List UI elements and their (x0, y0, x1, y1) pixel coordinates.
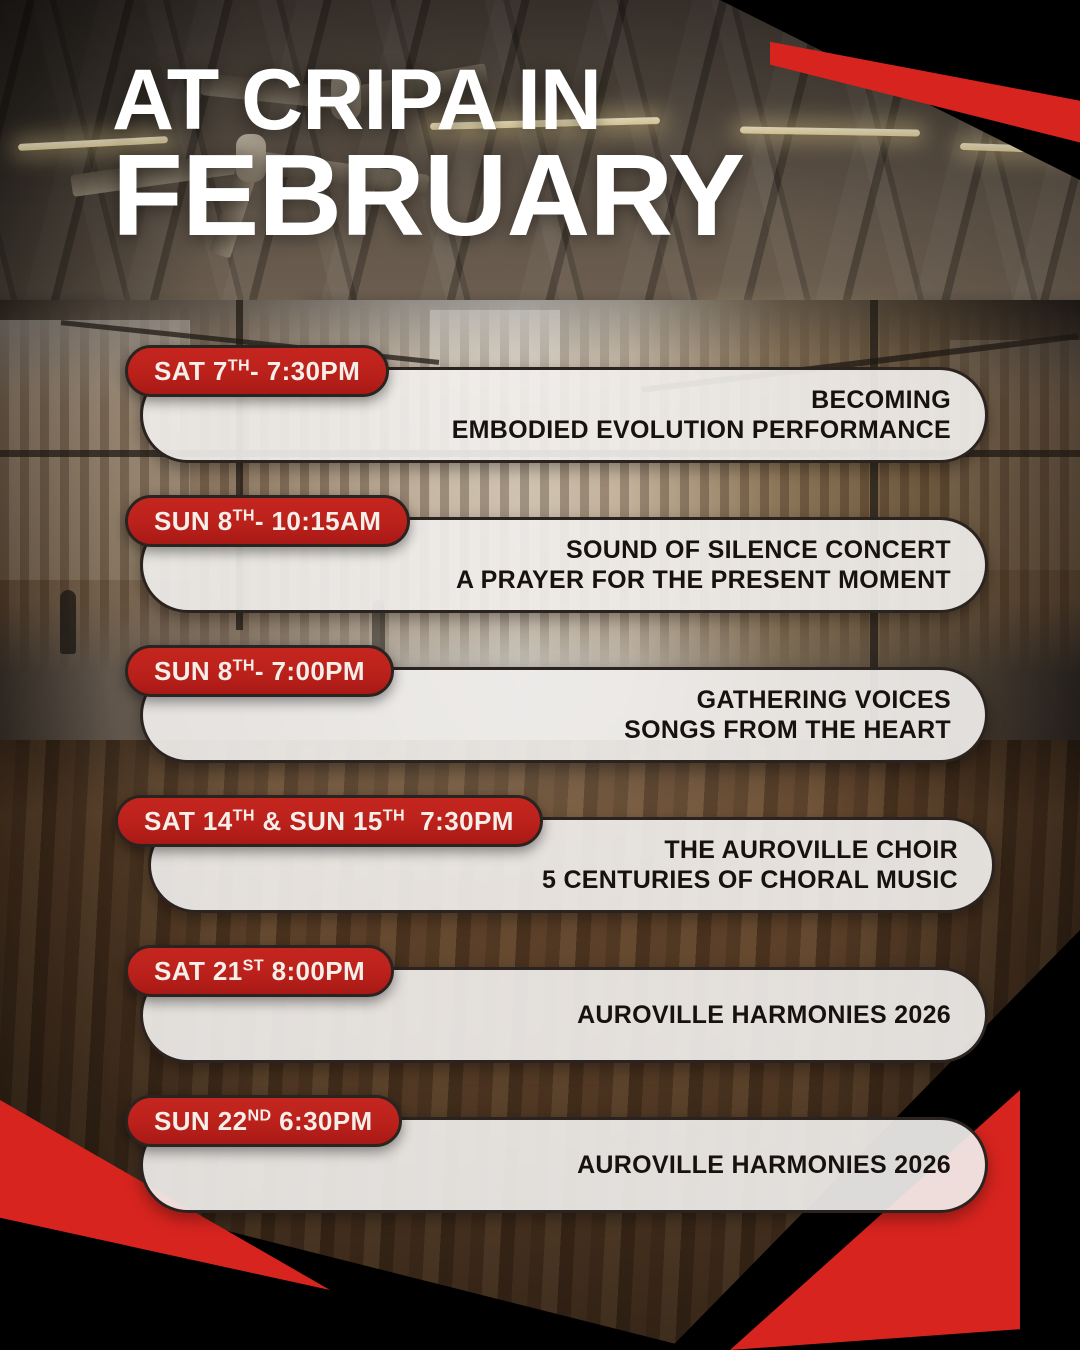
event-row[interactable]: SOUND OF SILENCE CONCERTA PRAYER FOR THE… (0, 495, 1080, 645)
page-title: AT CRIPA IN FEBRUARY (112, 62, 744, 248)
event-title-line: 5 CENTURIES OF CHORAL MUSIC (542, 865, 958, 896)
event-title-line: AUROVILLE HARMONIES 2026 (577, 1150, 951, 1181)
event-date-text: SUN 22ND 6:30PM (154, 1106, 373, 1137)
event-date-text: SAT 21ST 8:00PM (154, 956, 365, 987)
event-title-line: AUROVILLE HARMONIES 2026 (577, 1000, 951, 1031)
event-date-pill[interactable]: SAT 7TH- 7:30PM (125, 345, 389, 397)
event-title-line: SONGS FROM THE HEART (624, 715, 951, 746)
event-title-line: A PRAYER FOR THE PRESENT MOMENT (456, 565, 951, 596)
event-row[interactable]: BECOMINGEMBODIED EVOLUTION PERFORMANCESA… (0, 345, 1080, 495)
event-title-line: THE AUROVILLE CHOIR (664, 835, 958, 866)
event-date-pill[interactable]: SUN 22ND 6:30PM (125, 1095, 402, 1147)
event-row[interactable]: AUROVILLE HARMONIES 2026SUN 22ND 6:30PM (0, 1095, 1080, 1245)
event-date-pill[interactable]: SAT 21ST 8:00PM (125, 945, 394, 997)
event-row[interactable]: AUROVILLE HARMONIES 2026SAT 21ST 8:00PM (0, 945, 1080, 1095)
event-title-line: EMBODIED EVOLUTION PERFORMANCE (452, 415, 951, 446)
event-title-line: BECOMING (811, 385, 951, 416)
page-title-line2: FEBRUARY (112, 143, 744, 247)
event-title-line: SOUND OF SILENCE CONCERT (566, 535, 951, 566)
poster-canvas: AT CRIPA IN FEBRUARY BECOMINGEMBODIED EV… (0, 0, 1080, 1350)
event-row[interactable]: GATHERING VOICESSONGS FROM THE HEARTSUN … (0, 645, 1080, 795)
event-date-pill[interactable]: SUN 8TH- 10:15AM (125, 495, 410, 547)
event-date-text: SUN 8TH- 10:15AM (154, 506, 381, 537)
page-title-line1: AT CRIPA IN (112, 62, 744, 139)
event-title-line: GATHERING VOICES (697, 685, 951, 716)
event-date-pill[interactable]: SAT 14TH & SUN 15TH 7:30PM (115, 795, 543, 847)
event-date-pill[interactable]: SUN 8TH- 7:00PM (125, 645, 394, 697)
event-date-text: SAT 7TH- 7:30PM (154, 356, 360, 387)
event-row[interactable]: THE AUROVILLE CHOIR5 CENTURIES OF CHORAL… (0, 795, 1080, 945)
event-date-text: SUN 8TH- 7:00PM (154, 656, 365, 687)
event-date-text: SAT 14TH & SUN 15TH 7:30PM (144, 806, 514, 837)
event-list: BECOMINGEMBODIED EVOLUTION PERFORMANCESA… (0, 345, 1080, 1245)
